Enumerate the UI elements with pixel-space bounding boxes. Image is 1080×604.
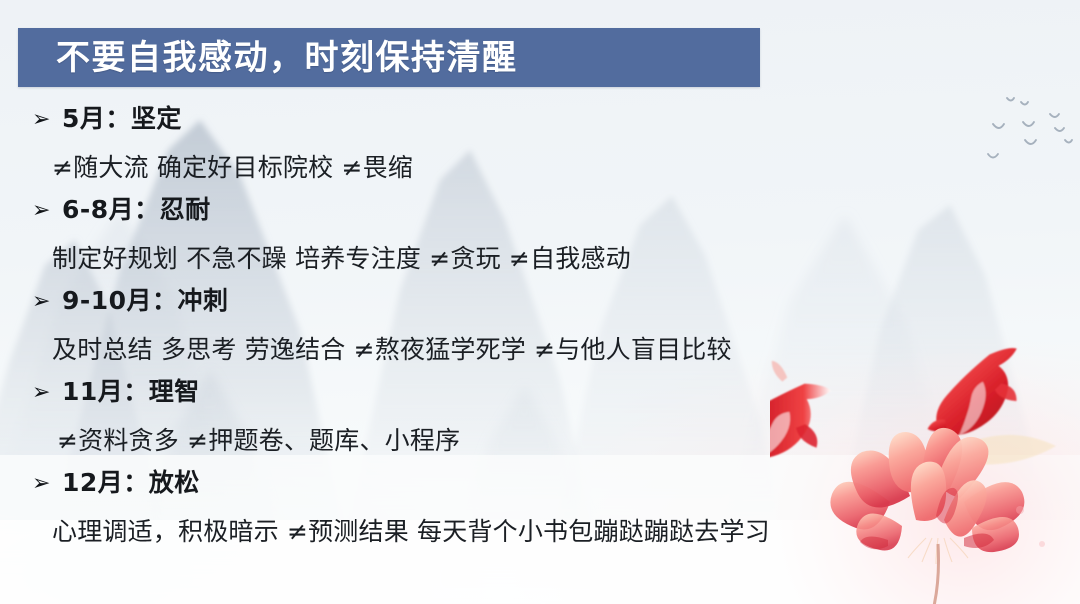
list-item-subtext: 及时总结 多思考 劳逸结合 ≠熬夜猛学死学 ≠与他人盲目比较 <box>0 326 1010 373</box>
monthly-plan-list: ➢ 5月：坚定 ≠随大流 确定好目标院校 ≠畏缩 ➢ 6-8月：忍耐 制定好规划… <box>0 104 1010 559</box>
arrow-bullet-icon: ➢ <box>32 109 62 131</box>
arrow-bullet-icon: ➢ <box>32 473 62 495</box>
list-item-header: ➢ 12月：放松 <box>0 468 1010 508</box>
arrow-bullet-icon: ➢ <box>32 382 62 404</box>
list-item-subtext: ≠资料贪多 ≠押题卷、题库、小程序 <box>0 417 1010 464</box>
list-item: ➢ 6-8月：忍耐 制定好规划 不急不躁 培养专注度 ≠贪玩 ≠自我感动 <box>0 195 1010 282</box>
page-title: 不要自我感动，时刻保持清醒 <box>18 41 518 75</box>
list-item-title: 11月：理智 <box>62 377 200 407</box>
list-item-subtext: ≠随大流 确定好目标院校 ≠畏缩 <box>0 144 1010 191</box>
list-item: ➢ 9-10月：冲刺 及时总结 多思考 劳逸结合 ≠熬夜猛学死学 ≠与他人盲目比… <box>0 286 1010 373</box>
slide-canvas: 不要自我感动，时刻保持清醒 ➢ 5月：坚定 ≠随大流 确定好目标院校 ≠畏缩 ➢… <box>0 0 1080 604</box>
title-banner: 不要自我感动，时刻保持清醒 <box>18 28 760 87</box>
list-item: ➢ 11月：理智 ≠资料贪多 ≠押题卷、题库、小程序 <box>0 377 1010 464</box>
list-item: ➢ 12月：放松 心理调适，积极暗示 ≠预测结果 每天背个小书包蹦跶蹦跶去学习 <box>0 468 1010 555</box>
list-item-title: 9-10月：冲刺 <box>62 286 229 316</box>
list-item-header: ➢ 5月：坚定 <box>0 104 1010 144</box>
list-item-header: ➢ 9-10月：冲刺 <box>0 286 1010 326</box>
list-item-title: 12月：放松 <box>62 468 200 498</box>
list-item: ➢ 5月：坚定 ≠随大流 确定好目标院校 ≠畏缩 <box>0 104 1010 191</box>
list-item-title: 5月：坚定 <box>62 104 182 134</box>
list-item-subtext: 制定好规划 不急不躁 培养专注度 ≠贪玩 ≠自我感动 <box>0 235 1010 282</box>
arrow-bullet-icon: ➢ <box>32 200 62 222</box>
list-item-subtext: 心理调适，积极暗示 ≠预测结果 每天背个小书包蹦跶蹦跶去学习 <box>0 508 1010 555</box>
arrow-bullet-icon: ➢ <box>32 291 62 313</box>
list-item-header: ➢ 11月：理智 <box>0 377 1010 417</box>
list-item-title: 6-8月：忍耐 <box>62 195 211 225</box>
list-item-header: ➢ 6-8月：忍耐 <box>0 195 1010 235</box>
